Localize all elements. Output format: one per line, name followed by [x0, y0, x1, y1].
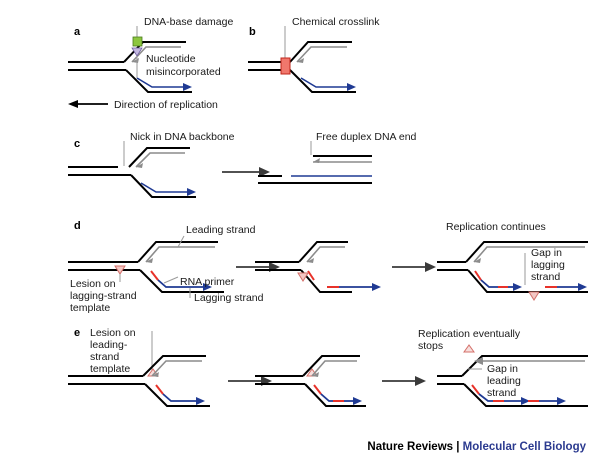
okazaki-arrowhead-2 [557, 397, 566, 405]
panel-e-stage-3: Replication eventually stops Gap [418, 328, 588, 406]
lesion-leading-template-label-line4: template [90, 363, 130, 375]
lesion-leading-template-label-line3: strand [90, 351, 119, 363]
lagging-nascent-strand-new [481, 280, 501, 287]
leader-line-rna-primer [164, 277, 178, 283]
panel-e-stage-2 [255, 356, 426, 406]
gap-in-leading-strand-label-line1: Gap in [487, 363, 518, 375]
lesion-lagging-template-label-line3: template [70, 302, 110, 314]
lagging-strand-arrowhead [196, 397, 205, 405]
panel-d-stage-2 [255, 242, 436, 292]
okazaki-arrowhead-2 [578, 283, 587, 291]
panel-a: a DNA-base damage Nucleotide misincorpor… [68, 16, 233, 111]
lagging-strand-arrowhead [187, 188, 196, 196]
direction-of-replication-arrowhead [68, 100, 78, 108]
lagging-nascent-strand [137, 78, 186, 87]
okazaki-arrowhead-1 [513, 283, 522, 291]
chemical-crosslink-label: Chemical crosslink [292, 16, 380, 28]
panel-d-letter: d [74, 220, 81, 232]
direction-of-replication-label: Direction of replication [114, 99, 218, 111]
panel-e-stage-1: Lesion on leading- strand template [68, 327, 272, 406]
replication-eventually-stops-label-line1: Replication eventually [418, 328, 521, 340]
journal-name: Nature Reviews [367, 441, 453, 453]
leading-nascent-strand [136, 153, 185, 167]
lagging-template-strand [290, 70, 356, 92]
leading-template-strand [138, 242, 218, 262]
lagging-nascent-strand [301, 78, 350, 87]
leading-nascent-strand [474, 247, 585, 262]
dna-base-damage-label: DNA-base damage [144, 16, 233, 28]
gap-in-lagging-strand-label-line1: Gap in [531, 247, 562, 259]
leading-nascent-strand [312, 361, 357, 376]
panel-b-letter: b [249, 26, 256, 38]
leading-nascent-strand [152, 361, 202, 376]
journal-section: Molecular Cell Biology [463, 441, 586, 453]
gap-in-leading-strand-label-line2: leading [487, 375, 521, 387]
panel-d-stage-1: Leading strand Lesion on lagging-strand … [68, 224, 280, 314]
panel-c: c Nick in DNA backbone Free duplex DNA e… [68, 131, 417, 197]
chemical-crosslink-icon [281, 58, 290, 74]
rna-primer-segment [156, 385, 163, 394]
okazaki-arrowhead [353, 397, 362, 405]
leading-template-strand [299, 242, 348, 262]
panel-b: b Chemical crosslink [248, 16, 380, 92]
lesion-leading-template-label-line2: leading- [90, 339, 128, 351]
gap-in-lagging-strand-label-line2: lagging [531, 259, 565, 271]
panel-a-letter: a [74, 26, 81, 38]
leading-strand-label: Leading strand [186, 224, 256, 236]
nucleotide-misincorporated-label-line1: Nucleotide [146, 53, 196, 65]
lagging-strand-label: Lagging strand [194, 292, 264, 304]
lesion-marker-icon [464, 345, 474, 352]
leading-nascent-strand [297, 47, 347, 62]
lesion-leading-template-label-line1: Lesion on [90, 327, 136, 339]
nick-in-dna-backbone-label: Nick in DNA backbone [130, 131, 235, 143]
free-duplex-dna-end-label: Free duplex DNA end [316, 131, 417, 143]
replication-eventually-stops-label-line2: stops [418, 340, 443, 352]
lesion-lagging-template-label-line2: lagging-strand [70, 290, 137, 302]
transition-arrowhead-2 [425, 262, 436, 272]
panel-d: d Leading strand Lesion on lagging-stran… [68, 220, 588, 314]
lagging-nascent-strand [321, 394, 334, 401]
gap-in-lagging-strand-label-line3: strand [531, 271, 560, 283]
rna-primer-segment [314, 385, 321, 394]
replication-continues-label: Replication continues [446, 221, 546, 233]
rna-primer-segment [151, 271, 158, 280]
okazaki-arrowhead [372, 283, 381, 291]
transition-arrowhead-2 [415, 376, 426, 386]
lagging-nascent-strand [163, 394, 199, 401]
lagging-template-strand [131, 175, 196, 197]
nucleotide-misincorporated-label-line2: misincorporated [146, 66, 221, 78]
figure-canvas: a DNA-base damage Nucleotide misincorpor… [0, 0, 600, 475]
lagging-strand-arrowhead [183, 83, 192, 91]
panel-d-stage-3: Replication continues Gap in [437, 221, 588, 300]
panel-e: e Lesion on leading- strand template [68, 327, 588, 406]
dna-base-damage-icon [133, 37, 142, 46]
panel-e-letter: e [74, 327, 80, 339]
lagging-template-strand [468, 270, 588, 292]
leading-nascent-strand [146, 247, 215, 262]
lesion-lagging-template-label-line1: Lesion on [70, 278, 116, 290]
leading-template-strand [466, 242, 588, 262]
journal-footer: Nature Reviews | Molecular Cell Biology [367, 441, 586, 453]
lesion-marker-icon [529, 292, 539, 300]
rna-primer-label: RNA primer [180, 276, 235, 288]
lagging-nascent-strand [141, 183, 190, 192]
gap-in-leading-strand-label-line3: strand [487, 387, 516, 399]
footer-separator: | [456, 441, 459, 453]
lagging-strand-arrowhead [347, 83, 356, 91]
panel-c-letter: c [74, 138, 80, 150]
